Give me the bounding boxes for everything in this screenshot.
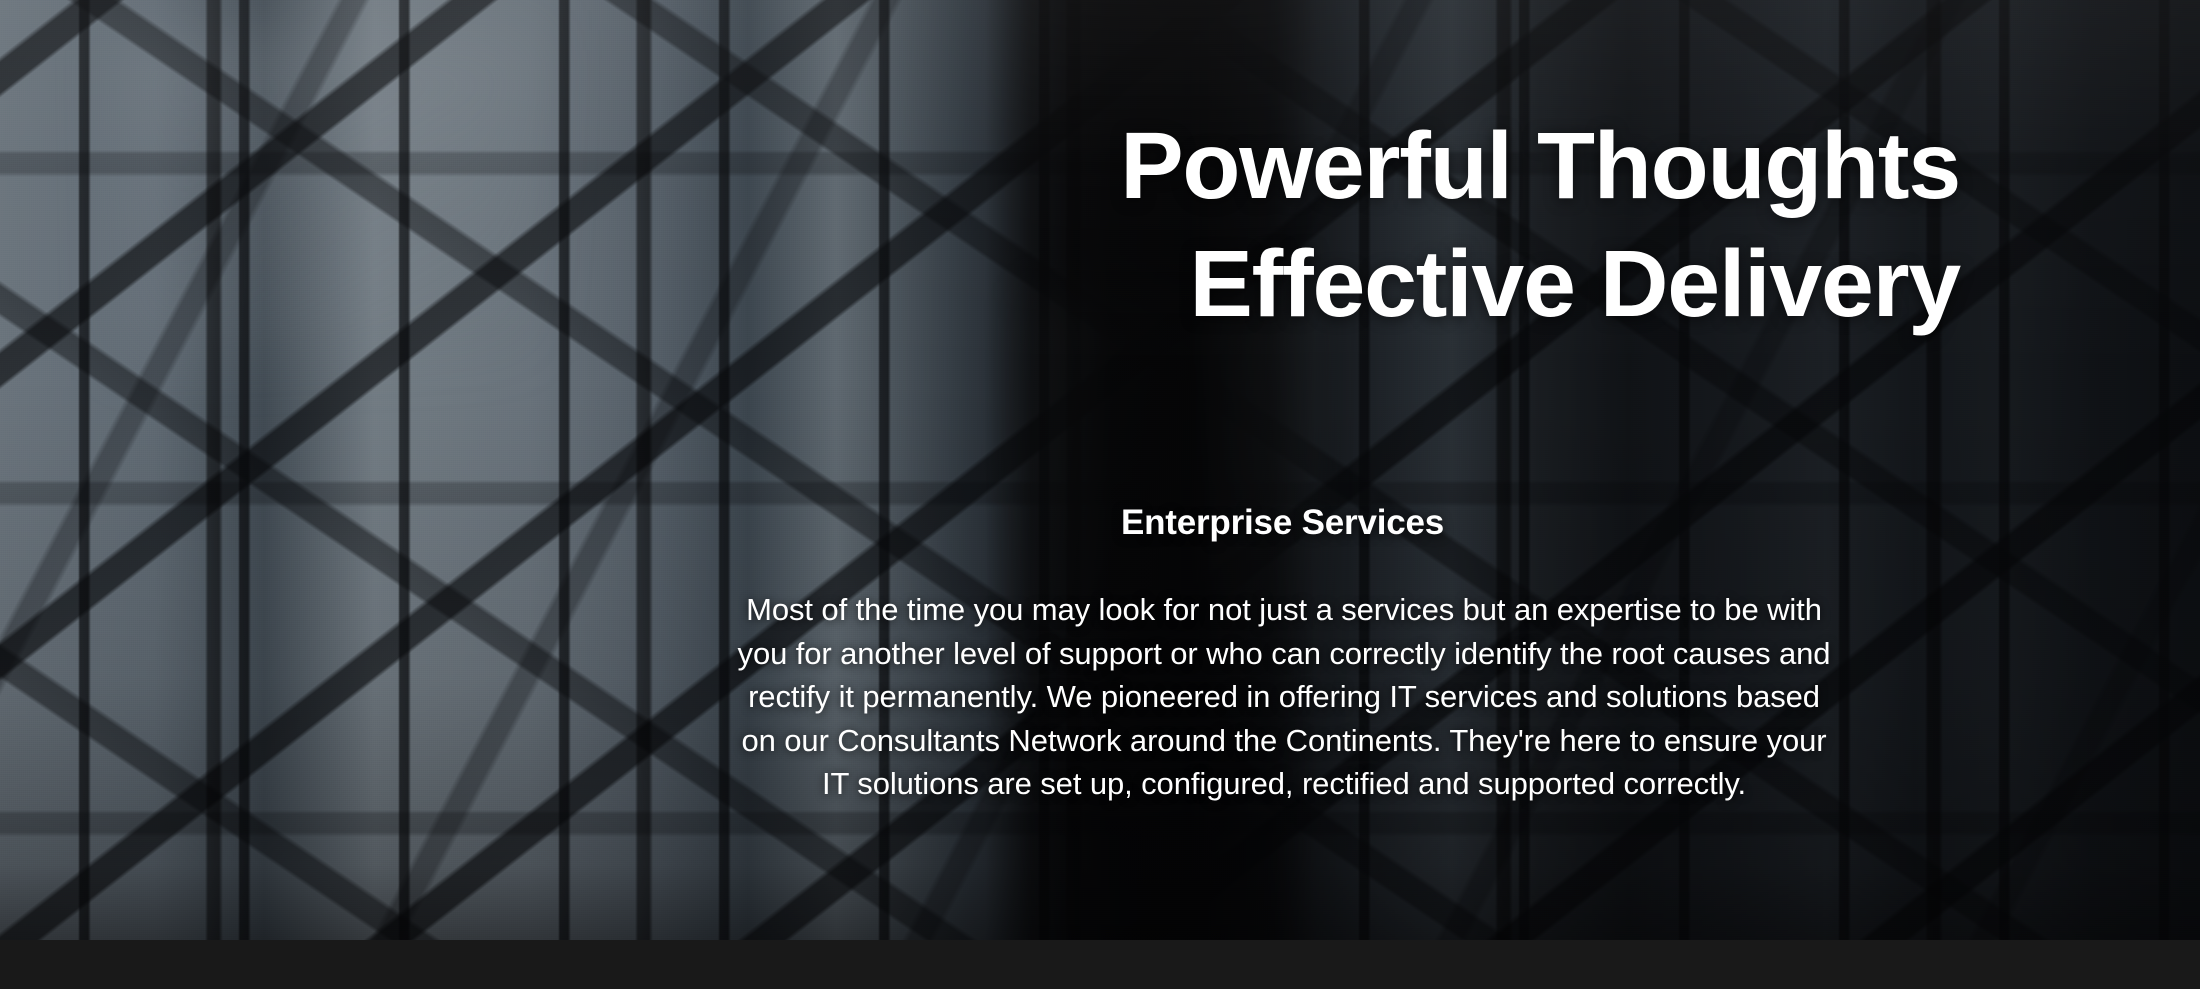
hero-banner: Powerful Thoughts Effective Delivery Ent… [0, 0, 2200, 940]
hero-content: Powerful Thoughts Effective Delivery Ent… [0, 0, 2200, 940]
hero-headline-line-1: Powerful Thoughts [860, 108, 1960, 226]
hero-body-paragraph: Most of the time you may look for not ju… [735, 588, 1833, 806]
footer-strip [0, 940, 2200, 989]
hero-subheading: Enterprise Services [735, 503, 1830, 543]
page-root: Powerful Thoughts Effective Delivery Ent… [0, 0, 2200, 989]
hero-headline: Powerful Thoughts Effective Delivery [860, 108, 1960, 344]
hero-headline-line-2: Effective Delivery [860, 226, 1960, 344]
